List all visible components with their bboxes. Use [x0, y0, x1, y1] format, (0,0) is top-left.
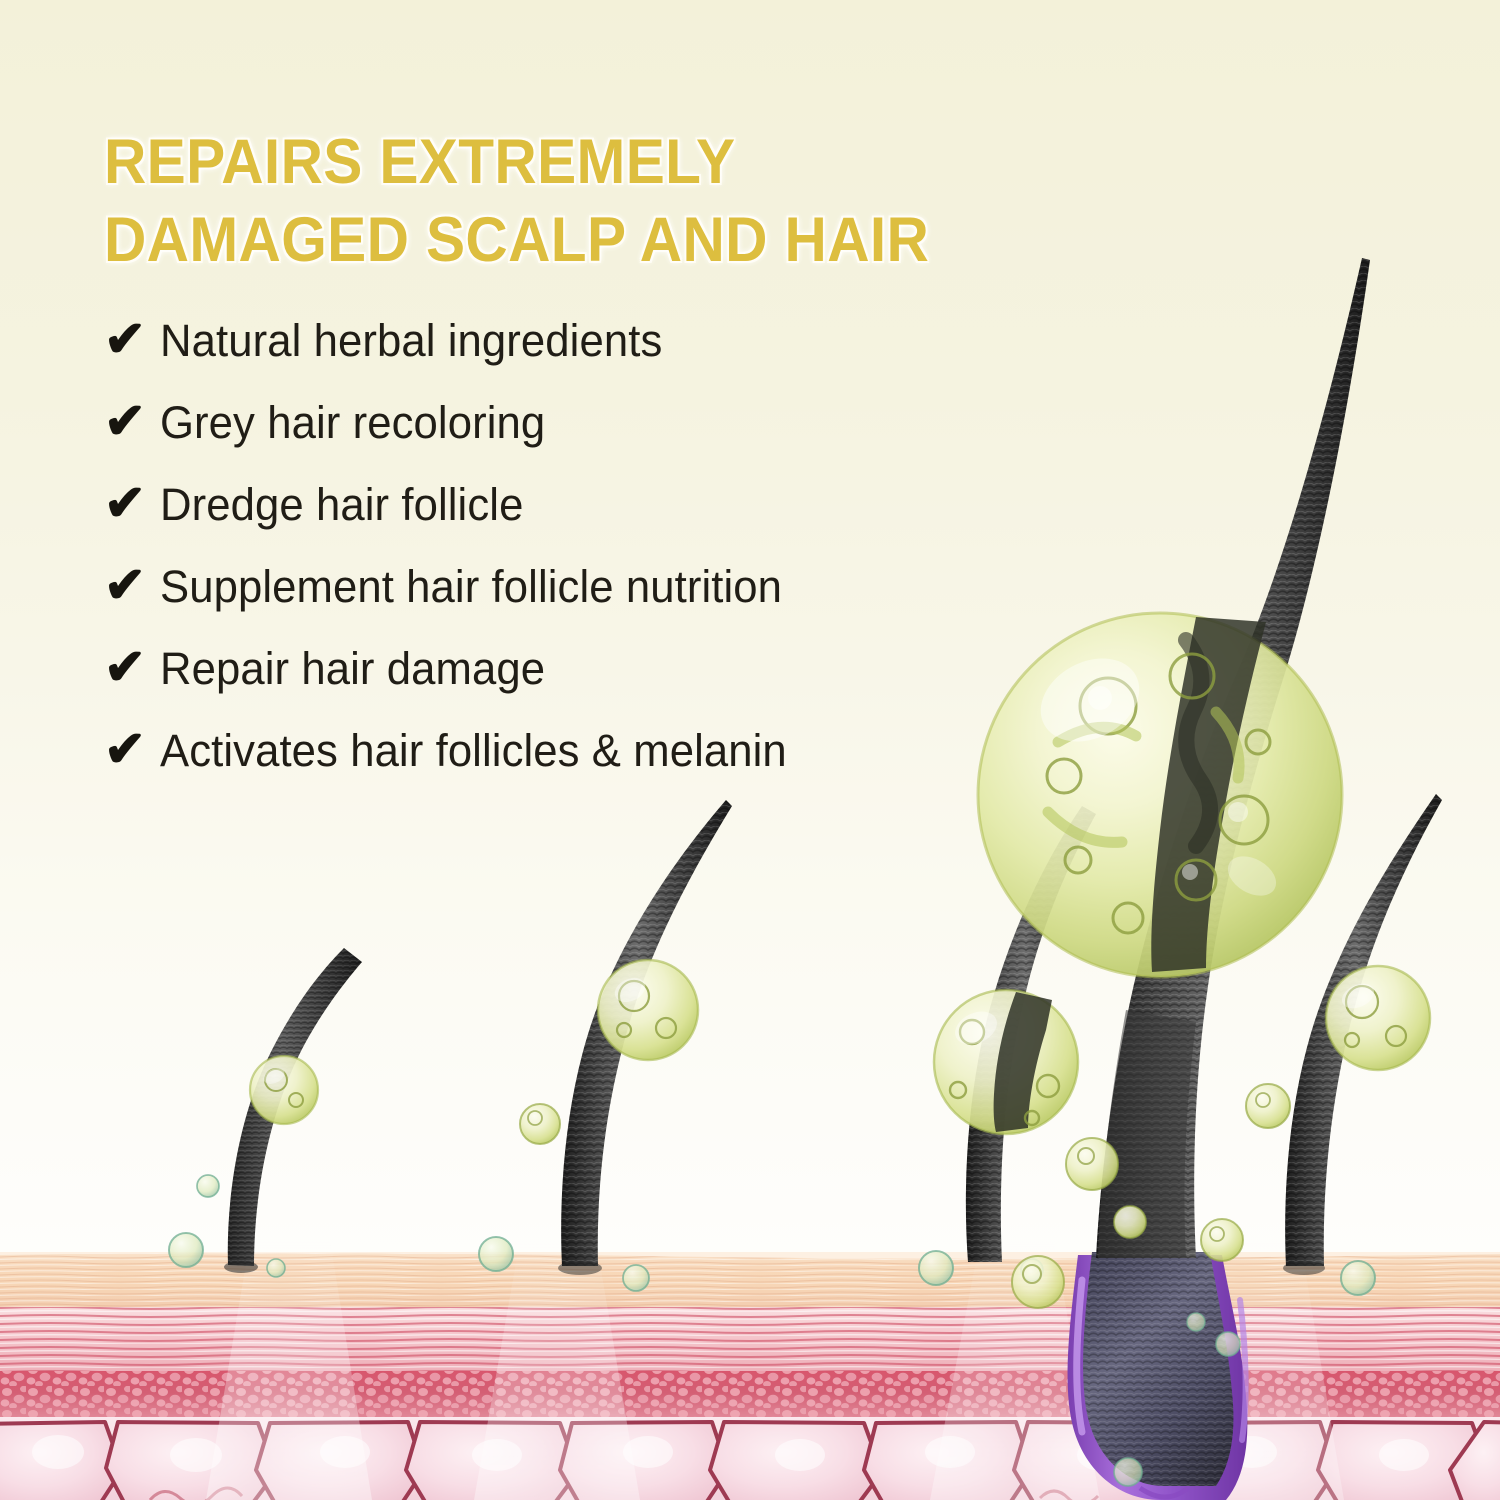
oil-droplet-medium-inner — [934, 990, 1078, 1134]
check-icon: ✔ — [104, 560, 160, 610]
benefit-label: Dredge hair follicle — [160, 481, 523, 528]
check-icon: ✔ — [104, 478, 160, 528]
check-icon: ✔ — [104, 724, 160, 774]
benefit-label: Grey hair recoloring — [160, 399, 545, 446]
headline-line-1: REPAIRS EXTREMELY — [104, 123, 904, 201]
list-item: ✔ Natural herbal ingredients — [104, 300, 984, 382]
benefit-label: Repair hair damage — [160, 645, 545, 692]
oil-droplet-large — [978, 613, 1342, 977]
list-item: ✔ Repair hair damage — [104, 628, 984, 710]
oil-droplet-medium-middle — [598, 960, 698, 1060]
list-item: ✔ Supplement hair follicle nutrition — [104, 546, 984, 628]
headline: REPAIRS EXTREMELY DAMAGED SCALP AND HAIR — [104, 123, 904, 279]
benefit-label: Supplement hair follicle nutrition — [160, 563, 782, 610]
check-icon: ✔ — [104, 396, 160, 446]
check-icon: ✔ — [104, 314, 160, 364]
check-icon: ✔ — [104, 642, 160, 692]
product-infographic: REPAIRS EXTREMELY DAMAGED SCALP AND HAIR… — [0, 0, 1500, 1500]
oil-droplet-medium-right — [1326, 966, 1430, 1070]
hair-follicle-bulb — [1068, 1252, 1248, 1500]
benefit-label: Activates hair follicles & melanin — [160, 727, 787, 774]
benefit-label: Natural herbal ingredients — [160, 317, 662, 364]
list-item: ✔ Grey hair recoloring — [104, 382, 984, 464]
headline-line-2: DAMAGED SCALP AND HAIR — [104, 201, 904, 279]
list-item: ✔ Activates hair follicles & melanin — [104, 710, 984, 792]
list-item: ✔ Dredge hair follicle — [104, 464, 984, 546]
benefits-list: ✔ Natural herbal ingredients ✔ Grey hair… — [104, 300, 984, 792]
oil-droplet-medium-left — [250, 1056, 318, 1124]
